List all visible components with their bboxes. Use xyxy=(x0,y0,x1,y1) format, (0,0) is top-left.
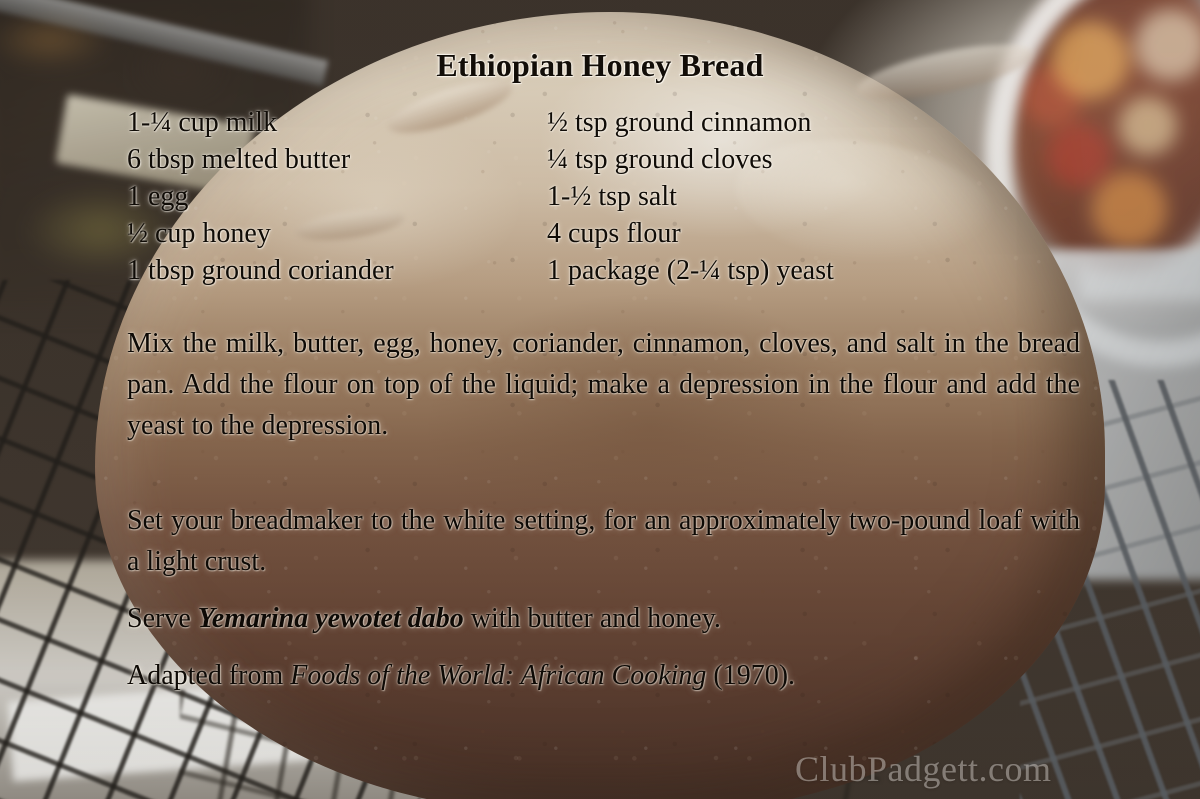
serving-suggestion: Serve Yemarina yewotet dabo with butter … xyxy=(127,598,1080,639)
instruction-paragraph-setting: Set your breadmaker to the white setting… xyxy=(127,500,1080,582)
recipe-title: Ethiopian Honey Bread xyxy=(0,47,1200,84)
source-prefix: Adapted from xyxy=(127,660,290,691)
ingredient-item: 1-½ tsp salt xyxy=(547,178,1087,215)
ingredient-item: 6 tbsp melted butter xyxy=(127,141,547,178)
recipe-photo-card: Ethiopian Honey Bread 1-¼ cup milk ½ tsp… xyxy=(0,0,1200,799)
ingredient-item: 1 tbsp ground coriander xyxy=(127,252,547,289)
ingredient-item: 1 egg xyxy=(127,178,547,215)
ingredient-item: 1-¼ cup milk xyxy=(127,104,547,141)
recipe-overlay: Ethiopian Honey Bread 1-¼ cup milk ½ tsp… xyxy=(0,0,1200,799)
ingredient-item: ½ cup honey xyxy=(127,215,547,252)
ingredient-item: ¼ tsp ground cloves xyxy=(547,141,1087,178)
site-watermark: ClubPadgett.com xyxy=(795,748,1051,790)
dish-native-name: Yemarina yewotet dabo xyxy=(198,603,464,634)
ingredient-item: ½ tsp ground cinnamon xyxy=(547,104,1087,141)
instruction-paragraph-mix: Mix the milk, butter, egg, honey, corian… xyxy=(127,323,1080,446)
source-book-title: Foods of the World: African Cooking xyxy=(290,660,706,691)
serve-suffix: with butter and honey. xyxy=(464,603,721,634)
serve-prefix: Serve xyxy=(127,603,198,634)
source-suffix: (1970). xyxy=(706,660,795,691)
ingredient-item: 1 package (2-¼ tsp) yeast xyxy=(547,252,1087,289)
ingredients-list: 1-¼ cup milk ½ tsp ground cinnamon 6 tbs… xyxy=(127,104,1087,289)
source-attribution: Adapted from Foods of the World: African… xyxy=(127,655,1080,696)
ingredient-item: 4 cups flour xyxy=(547,215,1087,252)
